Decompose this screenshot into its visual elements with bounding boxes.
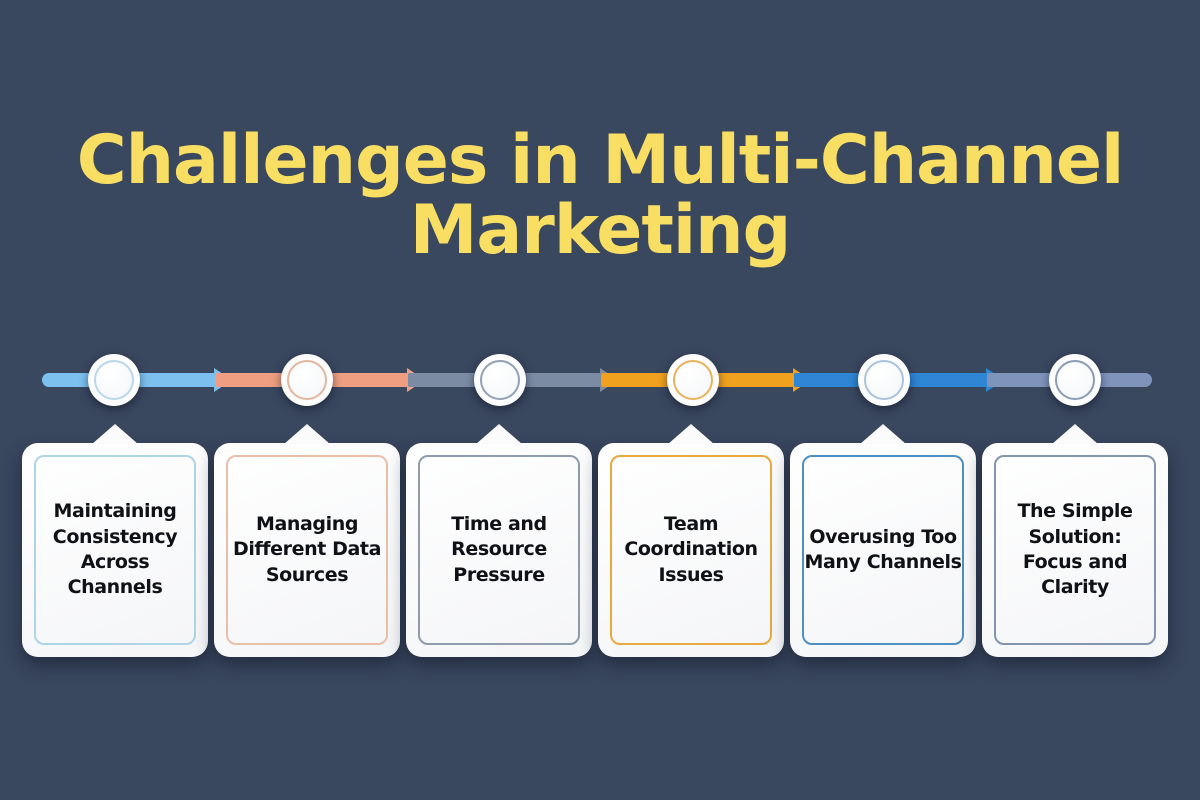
node-ring-icon-4 [673,360,713,400]
node-ring-icon-1 [94,360,134,400]
node-ring-icon-2 [287,360,327,400]
title-line-1: Challenges in Multi-Channel [0,126,1200,196]
timeline-node-5[interactable] [858,354,910,406]
timeline-node-1[interactable] [88,354,140,406]
card-label-4: Team Coordination Issues [612,512,770,588]
card-pointer-icon-1 [92,424,138,444]
challenge-card-2[interactable]: Managing Different Data Sources [214,443,400,657]
timeline-node-6[interactable] [1049,354,1101,406]
card-pointer-icon-3 [476,424,522,444]
challenge-card-5[interactable]: Overusing Too Many Channels [790,443,976,657]
card-pointer-icon-6 [1052,424,1098,444]
card-pointer-icon-2 [284,424,330,444]
challenge-card-6[interactable]: The Simple Solution: Focus and Clarity [982,443,1168,657]
card-label-6: The Simple Solution: Focus and Clarity [996,499,1154,601]
timeline-node-4[interactable] [667,354,719,406]
title-line-2: Marketing [0,196,1200,266]
card-label-5: Overusing Too Many Channels [804,525,962,576]
card-label-3: Time and Resource Pressure [420,512,578,588]
challenge-card-4[interactable]: Team Coordination Issues [598,443,784,657]
challenge-card-3[interactable]: Time and Resource Pressure [406,443,592,657]
node-ring-icon-5 [864,360,904,400]
card-label-1: Maintaining Consistency Across Channels [36,499,194,601]
card-label-2: Managing Different Data Sources [228,512,386,588]
challenge-card-1[interactable]: Maintaining Consistency Across Channels [22,443,208,657]
card-pointer-icon-5 [860,424,906,444]
node-ring-icon-3 [480,360,520,400]
timeline-node-3[interactable] [474,354,526,406]
timeline-track [0,360,1200,400]
page-title: Challenges in Multi-Channel Marketing [0,126,1200,266]
card-pointer-icon-4 [668,424,714,444]
timeline-node-2[interactable] [281,354,333,406]
infographic-canvas: Challenges in Multi-Channel Marketing Ma… [0,0,1200,800]
node-ring-icon-6 [1055,360,1095,400]
